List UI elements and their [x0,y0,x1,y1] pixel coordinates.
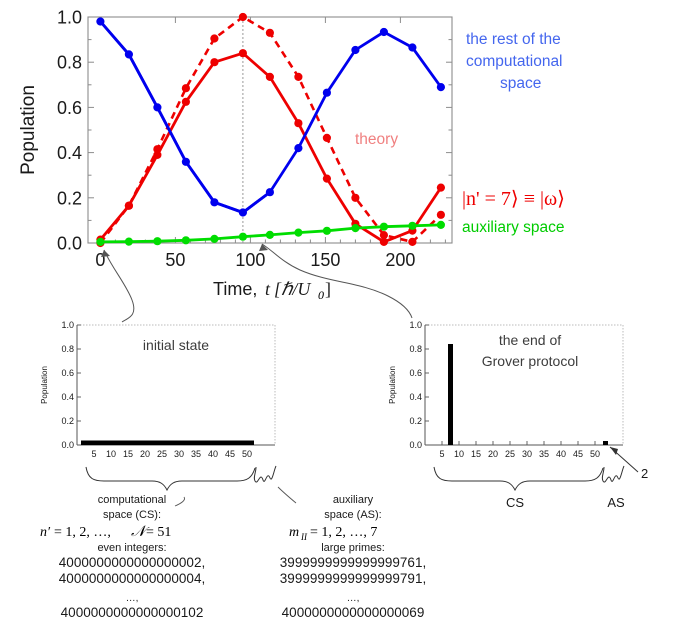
inset-left-ytick-0: 0.0 [61,440,74,450]
inset-left-xtick-6: 35 [191,449,201,459]
inset-right-ytick-2: 0.4 [409,392,422,402]
inset-left-ytickmarks [77,325,81,445]
inset-right-xtick-6: 35 [539,449,549,459]
inset-right-peak-arrowhead [610,447,618,455]
inset-left-ytick-3: 0.6 [61,368,74,378]
inset-left-xtick-8: 45 [225,449,235,459]
main-legend-annotations: the rest of the computational space |n' … [462,31,565,236]
inset-right-xtick-9: 50 [590,449,600,459]
legend-right-formula: m II = 1, 2, …, 7 [289,525,377,542]
inset-left-xtick-2: 15 [123,449,133,459]
series-theory-markers [96,13,445,247]
legend-right-line2: space (AS): [324,509,381,521]
legend-red-ket: |n' = 7⟩ ≡ |ω⟩ [462,188,565,210]
cs-caption-connector [175,497,185,506]
legend-right-caption: large primes: [321,542,385,554]
inset-left-xtick-9: 50 [242,449,252,459]
legend-left-formula-sym: n′ [40,525,51,540]
main-xtick-3: 150 [310,250,340,270]
legend-blue-line1: the rest of the [466,31,561,48]
inset-right-xtick-4: 25 [505,449,515,459]
main-xlabel-close: ] [325,279,331,299]
inset-left-xtick-4: 25 [157,449,167,459]
series-rest-markers [96,17,445,216]
main-xlabel-t: t [265,279,271,299]
inset-left-ylabel: Population [40,366,49,404]
inset-right-ytick-1: 0.2 [409,416,422,426]
legend-right-block: auxiliary space (AS): m II = 1, 2, …, 7 … [280,494,426,620]
inset-right-ytick-4: 0.8 [409,344,422,354]
main-xlabel: Time, t [ℏ/U 0 ] [213,279,331,302]
theory-label: theory [355,131,398,148]
inset-left-title: initial state [143,337,209,353]
figure-svg: 0.0 0.2 0.4 0.6 0.8 1.0 0 50 100 150 200… [0,0,683,634]
legend-right-formula-sub: II [300,532,308,542]
series-rest-line-b [100,22,441,213]
series-theory-line [100,17,441,243]
main-ytick-3: 0.6 [57,98,82,118]
legend-right-line1: auxiliary [333,494,374,506]
inset-right-xtick-2: 15 [471,449,481,459]
legend-blue-line2: computational [466,53,563,70]
legend-right-value-0: 3999999999999999761, [280,555,426,570]
inset-right-peak-bar [448,344,453,445]
main-ytick-1: 0.2 [57,188,82,208]
brace-cs [434,467,603,490]
label-cs: CS [506,495,524,510]
legend-left-line2: space (CS): [103,509,161,521]
legend-right-value-3: 4000000000000000069 [282,605,425,620]
main-plot: 0.0 0.2 0.4 0.6 0.8 1.0 0 50 100 150 200… [18,8,452,303]
inset-left-xtick-1: 10 [106,449,116,459]
main-xlabel-units: [ℏ/U [274,279,311,299]
legend-left-formula: n′ = 1, 2, …, 𝒩 = 51 [40,524,171,540]
legend-left-value-3: 4000000000000000102 [61,605,204,620]
inset-left-ytick-4: 0.8 [61,344,74,354]
connector-left [104,250,134,322]
inset-right-ytick-0: 0.0 [409,440,422,450]
legend-right-formula-sym: m [289,525,299,540]
caption-connectors [175,487,296,506]
inset-left-xtick-3: 20 [140,449,150,459]
inset-right-title-line1: the end of [499,332,561,348]
inset-right-xtick-8: 45 [573,449,583,459]
main-xtick-4: 200 [385,250,415,270]
inset-left-ytick-5: 1.0 [61,320,74,330]
inset-left-xtick-7: 40 [208,449,218,459]
inset-left-xtick-0: 5 [91,449,96,459]
legend-left-line1: computational [98,494,167,506]
figure-root: 0.0 0.2 0.4 0.6 0.8 1.0 0 50 100 150 200… [0,0,683,634]
inset-left-ytick-2: 0.4 [61,392,74,402]
main-ytick-0: 0.0 [57,234,82,254]
inset-right-xtick-5: 30 [522,449,532,459]
legend-right-formula-eq: = 1, 2, …, 7 [310,525,377,540]
main-y-tickmarks [88,17,452,243]
main-xtick-2: 100 [235,250,265,270]
main-xlabel-time: Time, [213,279,257,299]
main-xlabel-sub: 0 [318,288,324,302]
inset-right-xtick-3: 20 [488,449,498,459]
legend-left-caption: even integers: [97,542,166,554]
inset-right-xtick-1: 10 [454,449,464,459]
main-plot-frame [88,17,452,243]
main-ytick-2: 0.4 [57,143,82,163]
legend-green-label: auxiliary space [462,219,565,236]
inset-right-ytick-5: 1.0 [409,320,422,330]
legend-blue-line3: space [500,75,541,92]
main-ylabel: Population [18,85,39,175]
inset-right-ytickmarks [425,325,429,445]
inset-right-xtick-7: 40 [556,449,566,459]
legend-left-formula-eq2: = 51 [146,525,171,540]
inset-right-xtick-0: 5 [439,449,444,459]
main-ytick-4: 0.8 [57,53,82,73]
legend-left-formula-eq: = 1, 2, …, [54,525,111,540]
brace-as [602,466,624,482]
inset-right-peak-annotation: 2 [641,466,648,481]
inset-left-xtick-5: 30 [174,449,184,459]
legend-right-value-2: …, [347,593,360,604]
inset-right-xtickmarks [442,441,595,445]
inset-left-braces [86,466,276,490]
inset-right-plot: 0.0 0.2 0.4 0.6 0.8 1.0 5 10 15 20 25 30… [388,320,648,481]
legend-left-value-1: 4000000000000000004, [59,571,205,586]
inset-left-bars [81,441,254,446]
inset-right-title-line2: Grover protocol [482,353,578,369]
inset-left-ytick-1: 0.2 [61,416,74,426]
inset-right-ytick-3: 0.6 [409,368,422,378]
inset-right-small-bar [603,441,608,445]
label-as: AS [607,495,625,510]
brace-cs-left [86,467,255,490]
as-caption-connector [278,487,296,503]
inset-left-plot: 0.0 0.2 0.4 0.6 0.8 1.0 5 10 15 20 25 30… [40,320,275,459]
legend-left-value-2: …, [126,593,139,604]
main-xtick-1: 50 [165,250,185,270]
main-x-tickmarks [100,17,445,243]
inset-right-braces [434,466,624,490]
inset-right-ylabel: Population [388,366,397,404]
legend-left-value-0: 4000000000000000002, [59,555,205,570]
legend-right-value-1: 3999999999999999791, [280,571,426,586]
brace-as-left [254,466,276,482]
main-ytick-5: 1.0 [57,8,82,28]
legend-left-block: computational space (CS): n′ = 1, 2, …, … [40,494,205,620]
